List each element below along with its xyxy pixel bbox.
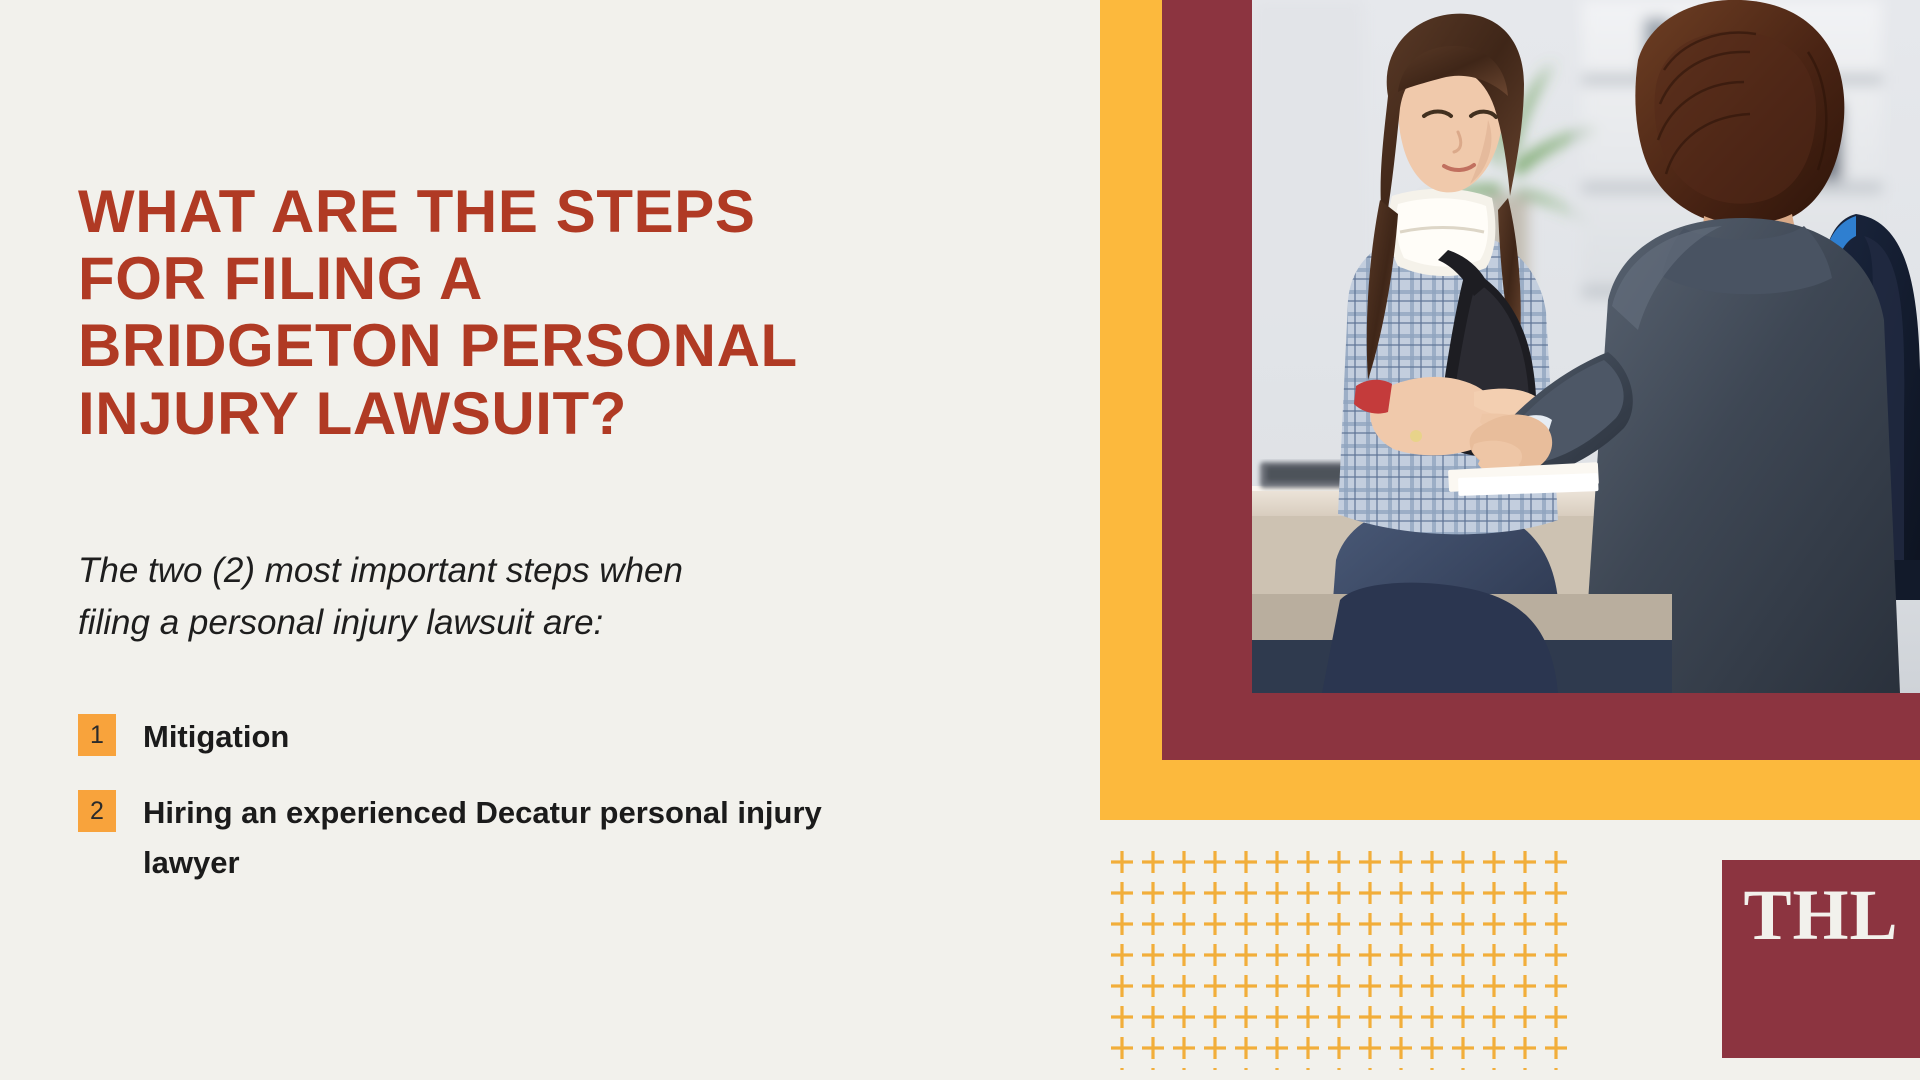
page-title-line-1: WHAT ARE THE STEPS	[78, 178, 1018, 245]
step-label: Hiring an experienced Decatur personal i…	[143, 788, 863, 888]
consultation-photo	[1252, 0, 1920, 693]
step-label: Mitigation	[143, 712, 289, 762]
subtitle-line-2: filing a personal injury lawsuit are:	[78, 597, 978, 649]
subtitle-text: The two (2) most important steps when fi…	[78, 545, 978, 649]
thl-logo: THL	[1722, 860, 1920, 1058]
left-content-column: WHAT ARE THE STEPS FOR FILING A BRIDGETO…	[0, 0, 1100, 1080]
page-title-line-3: BRIDGETON PERSONAL	[78, 312, 1018, 379]
steps-list: 1 Mitigation 2 Hiring an experienced Dec…	[78, 712, 1038, 915]
subtitle-line-1: The two (2) most important steps when	[78, 545, 978, 597]
plus-pattern-decoration	[1108, 848, 1578, 1070]
page-title-line-2: FOR FILING A	[78, 245, 1018, 312]
step-number-badge: 1	[78, 714, 116, 756]
list-item: 2 Hiring an experienced Decatur personal…	[78, 788, 1038, 888]
list-item: 1 Mitigation	[78, 712, 1038, 762]
photo-frame	[1100, 0, 1920, 820]
page-title-line-4: INJURY LAWSUIT?	[78, 380, 1018, 447]
thl-logo-text: THL	[1743, 874, 1898, 957]
step-number-badge: 2	[78, 790, 116, 832]
page-title: WHAT ARE THE STEPS FOR FILING A BRIDGETO…	[78, 178, 1018, 447]
